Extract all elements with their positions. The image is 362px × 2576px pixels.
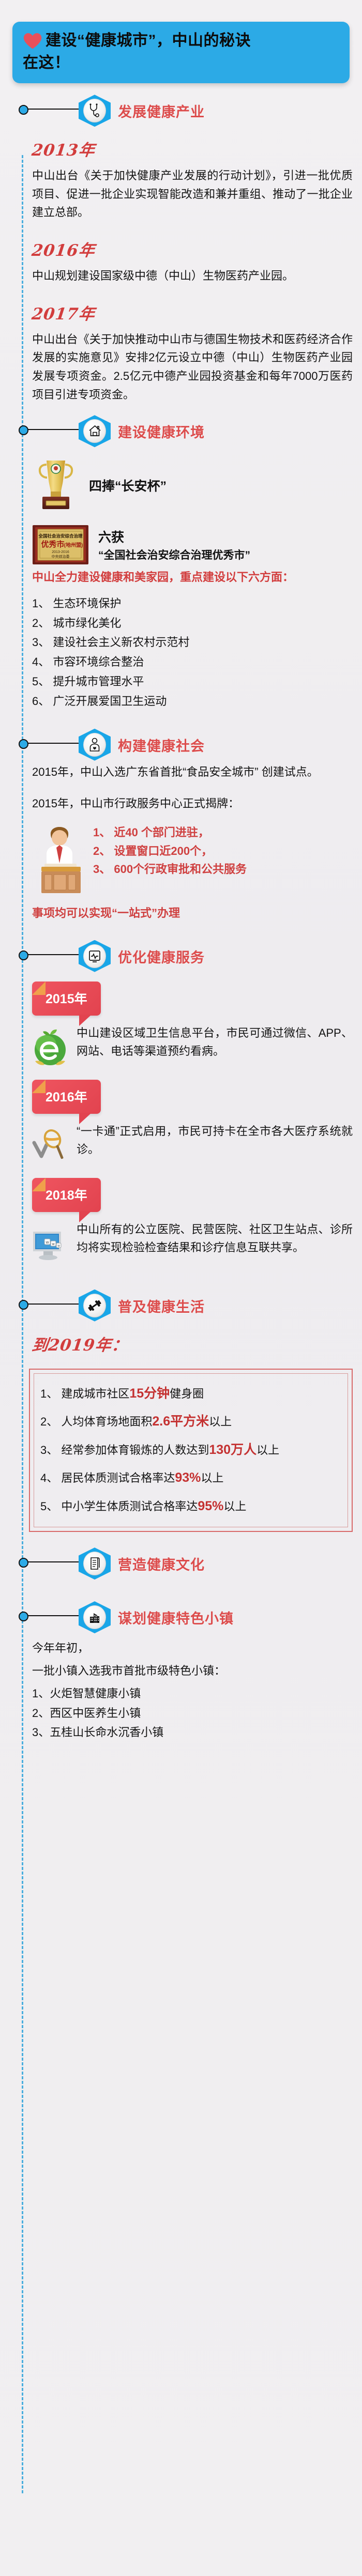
society-paragraph-service-center: 2015年，中山市行政服务中心正式揭牌： <box>32 794 353 813</box>
year-bubble: 2016年 <box>32 1080 101 1114</box>
paragraph-2016: 中山规划建设国家级中德（中山）生物医药产业园。 <box>32 267 353 285</box>
environment-item-6: 6、 广泛开展爱国卫生运动 <box>32 692 353 711</box>
svg-text:w: w <box>57 1245 60 1248</box>
year-bubble: 2018年 <box>32 1178 101 1212</box>
year-label-2016: 2016年 <box>31 237 97 260</box>
goal-item-5: 5、 中小学生体质测试合格率达95%以上 <box>40 1495 342 1518</box>
timeline-node <box>19 425 28 435</box>
section-header-health-services[interactable]: 优化健康服务 <box>0 940 362 971</box>
service-center-last-line: 事项均可以实现“一站式”办理 <box>0 904 362 923</box>
section-body-health-life: 到2019年： <box>0 1324 362 1361</box>
service-text-2015: 中山建设区域卫生信息平台，市民可通过微信、APP、网站、电话等渠道预约看病。 <box>77 1024 353 1061</box>
town-item-2: 2、西区中医养生小镇 <box>32 1704 353 1723</box>
header-banner-wrapper: 建设“健康城市”，中山的秘诀 在这！ <box>0 0 362 83</box>
section-body-health-industry: 2013年 中山出台《关于加快健康产业发展的行动计划》，引进一批优质项目、促进一… <box>0 129 362 404</box>
goal-prefix: 5、 中小学生体质测试合格率达 <box>40 1500 198 1513</box>
section-title: 发展健康产业 <box>118 101 205 121</box>
environment-lead: 中山全力建设健康和美家园，重点建设以下六方面： <box>32 568 353 587</box>
environment-item-2: 2、 城市绿化美化 <box>32 614 353 633</box>
service-item-1: 1、 近40 个部门进驻， <box>93 823 353 842</box>
award-label-six-wins: 六获 <box>98 527 250 546</box>
service-center-list: 1、 近40 个部门进驻， 2、 设置窗口近200个， 3、 600个行政审批和… <box>93 823 353 879</box>
svg-text:中央综治委: 中央综治委 <box>52 554 70 559</box>
goal-highlight: 130万人 <box>209 1443 257 1457</box>
environment-item-3: 3、 建设社会主义新农村示范村 <box>32 633 353 652</box>
connector-line <box>26 429 83 430</box>
connector-line <box>26 1615 83 1616</box>
goal-highlight: 95% <box>198 1499 223 1513</box>
service-entry-2015: 中山建设区域卫生信息平台，市民可通过微信、APP、网站、电话等渠道预约看病。 <box>0 1019 362 1072</box>
year-label-2013: 2013年 <box>31 137 97 160</box>
environment-item-1: 1、 生态环境保护 <box>32 594 353 614</box>
hexagon-badge <box>79 1290 111 1322</box>
section-header-health-industry[interactable]: 发展健康产业 <box>0 95 362 126</box>
town-item-3: 3、五桂山长命水沉香小镇 <box>32 1723 353 1742</box>
banner-title-line2: 在这！ <box>23 52 339 74</box>
year-bubble-row-2018: 2018年 <box>0 1171 362 1215</box>
goal-suffix: 以上 <box>209 1415 232 1428</box>
timeline-node <box>19 739 28 749</box>
goal-prefix: 3、 经常参加体育锻炼的人数达到 <box>40 1444 209 1456</box>
connector-line <box>26 743 83 744</box>
person-heart-icon <box>88 738 101 752</box>
goal-highlight: 2.6平方米 <box>152 1414 209 1429</box>
year-label-2019: 到2019年： <box>31 1332 130 1355</box>
section-title: 优化健康服务 <box>118 946 205 967</box>
goals-box-inner: 1、 建成城市社区15分钟健身圈 2、 人均体育场地面积2.6平方米以上 3、 … <box>34 1373 348 1528</box>
paragraph-2013: 中山出台《关于加快健康产业发展的行动计划》，引进一批优质项目、促进一批企业实现智… <box>32 166 353 222</box>
svg-text:全国社会治安综合治理: 全国社会治安综合治理 <box>38 533 83 539</box>
heart-icon <box>23 32 42 50</box>
connector-line <box>26 109 83 110</box>
section-title: 营造健康文化 <box>118 1554 205 1574</box>
environment-item-4: 4、 市容环境综合整治 <box>32 652 353 672</box>
goal-item-1: 1、 建成城市社区15分钟健身圈 <box>40 1382 342 1405</box>
green-e-icon <box>30 1024 70 1069</box>
service-text-2018: 中山所有的公立医院、民营医院、社区卫生站点、诊所均将实现检验检查结果和诊疗信息互… <box>77 1220 353 1257</box>
timeline-node <box>19 105 28 115</box>
service-item-2: 2、 设置窗口近200个， <box>93 842 353 861</box>
goal-suffix: 健身圈 <box>170 1387 204 1400</box>
hexagon-badge <box>79 415 111 447</box>
monitor-pulse-icon <box>88 949 101 963</box>
town-item-1: 1、火炬智慧健康小镇 <box>32 1684 353 1704</box>
section-title: 谋划健康特色小镇 <box>118 1607 234 1628</box>
society-paragraph-food-safety: 2015年，中山入选广东省首批“食品安全城市” 创建试点。 <box>32 763 353 781</box>
award-row-trophy: 四捧“长安杯” <box>0 449 362 519</box>
svg-text:2013-2016: 2013-2016 <box>52 550 69 554</box>
service-text-2016: “一卡通”正式启用，市民可持卡在全市各大医疗系统就诊。 <box>77 1122 353 1159</box>
buildings-icon <box>88 1611 101 1624</box>
goals-box: 1、 建成城市社区15分钟健身圈 2、 人均体育场地面积2.6平方米以上 3、 … <box>29 1369 353 1532</box>
environment-item-5: 5、 提升城市管理水平 <box>32 672 353 692</box>
goal-suffix: 以上 <box>201 1471 223 1484</box>
svg-text:优秀市: 优秀市 <box>41 540 64 549</box>
goal-suffix: 以上 <box>223 1500 246 1513</box>
section-title: 普及健康生活 <box>118 1296 205 1316</box>
goal-prefix: 1、 建成城市社区 <box>40 1387 129 1400</box>
timeline-node <box>19 950 28 960</box>
section-body-health-environment: 中山全力建设健康和美家园，重点建设以下六方面： 1、 生态环境保护 2、 城市绿… <box>0 568 362 711</box>
timeline-rail <box>22 155 23 2493</box>
computer-www-icon: w w w <box>30 1220 70 1266</box>
goal-item-2: 2、 人均体育场地面积2.6平方米以上 <box>40 1410 342 1433</box>
stethoscope-icon <box>88 103 101 118</box>
award-row-plaque: 全国社会治安综合治理 优秀市 (地州盟) 2013-2016 中央综治委 六获 … <box>0 519 362 568</box>
svg-text:w: w <box>51 1243 55 1246</box>
timeline-node <box>19 1612 28 1621</box>
connector-line <box>26 954 83 955</box>
header-banner: 建设“健康城市”，中山的秘诀 在这！ <box>12 22 350 83</box>
scroll-icon <box>88 1556 101 1571</box>
goal-item-3: 3、 经常参加体育锻炼的人数达到130万人以上 <box>40 1438 342 1462</box>
section-header-health-environment[interactable]: 建设健康环境 <box>0 415 362 446</box>
hexagon-badge <box>79 729 111 761</box>
year-bubble-row-2016: 2016年 <box>0 1072 362 1117</box>
clerk-desk-icon <box>31 823 88 901</box>
section-header-health-life[interactable]: 普及健康生活 <box>0 1290 362 1321</box>
year-bubble: 2015年 <box>32 982 101 1016</box>
service-entry-2016: “一卡通”正式启用，市民可持卡在全市各大医疗系统就诊。 <box>0 1117 362 1171</box>
award-sublabel-six-wins: “全国社会治安综合治理优秀市” <box>98 547 250 562</box>
infographic-page: 建设“健康城市”，中山的秘诀 在这！ 发展健康产业 2013年 中山出台《关于加… <box>0 0 362 2576</box>
svg-text:(地州盟): (地州盟) <box>64 542 83 548</box>
dumbbell-icon <box>87 1300 102 1311</box>
goal-item-4: 4、 居民体质测试合格率达93%以上 <box>40 1466 342 1490</box>
hexagon-badge <box>79 1601 111 1633</box>
timeline-node <box>19 1300 28 1310</box>
award-label-changan-cup: 四捧“长安杯” <box>89 476 167 495</box>
towns-lead-1: 今年年初， <box>32 1638 353 1658</box>
year-bubble-row-2015: 2015年 <box>0 974 362 1019</box>
timeline-node <box>19 1558 28 1568</box>
banner-title-line1: 建设“健康城市”，中山的秘诀 <box>23 30 339 52</box>
hexagon-badge <box>79 95 111 127</box>
section-header-health-culture[interactable]: 营造健康文化 <box>0 1547 362 1578</box>
connector-line <box>26 1561 83 1562</box>
svg-text:w: w <box>46 1240 49 1245</box>
service-center-block: 1、 近40 个部门进驻， 2、 设置窗口近200个， 3、 600个行政审批和… <box>0 820 362 906</box>
goal-prefix: 2、 人均体育场地面积 <box>40 1415 152 1428</box>
section-body-health-society: 2015年，中山入选广东省首批“食品安全城市” 创建试点。 2015年，中山市行… <box>0 763 362 813</box>
paragraph-2017: 中山出台《关于加快推动中山市与德国生物技术和医药经济合作发展的实施意见》安排2亿… <box>32 330 353 404</box>
hexagon-badge <box>79 1547 111 1580</box>
section-title: 构建健康社会 <box>118 735 205 755</box>
towns-lead-2: 一批小镇入选我市首批市级特色小镇： <box>32 1661 353 1681</box>
goal-highlight: 93% <box>175 1470 201 1485</box>
section-body-health-towns: 今年年初， 一批小镇入选我市首批市级特色小镇： 1、火炬智慧健康小镇 2、西区中… <box>0 1635 362 1742</box>
service-item-3: 3、 600个行政审批和公共服务 <box>93 860 353 879</box>
goal-suffix: 以上 <box>257 1444 279 1456</box>
connector-line <box>26 1304 83 1305</box>
card-check-icon <box>30 1122 70 1168</box>
goal-prefix: 4、 居民体质测试合格率达 <box>40 1471 175 1484</box>
service-entry-2018: w w w 中山所有的公立医院、民营医院、社区卫生站点、诊所均将实现检验检查结果… <box>0 1215 362 1269</box>
section-header-health-towns[interactable]: 谋划健康特色小镇 <box>0 1601 362 1632</box>
hexagon-badge <box>79 940 111 972</box>
trophy-icon <box>32 454 80 516</box>
section-title: 建设健康环境 <box>118 421 205 441</box>
section-header-health-society[interactable]: 构建健康社会 <box>0 729 362 760</box>
plaque-icon: 全国社会治安综合治理 优秀市 (地州盟) 2013-2016 中央综治委 <box>32 525 89 565</box>
house-icon <box>88 424 102 438</box>
goal-highlight: 15分钟 <box>129 1386 170 1401</box>
year-label-2017: 2017年 <box>31 301 97 324</box>
